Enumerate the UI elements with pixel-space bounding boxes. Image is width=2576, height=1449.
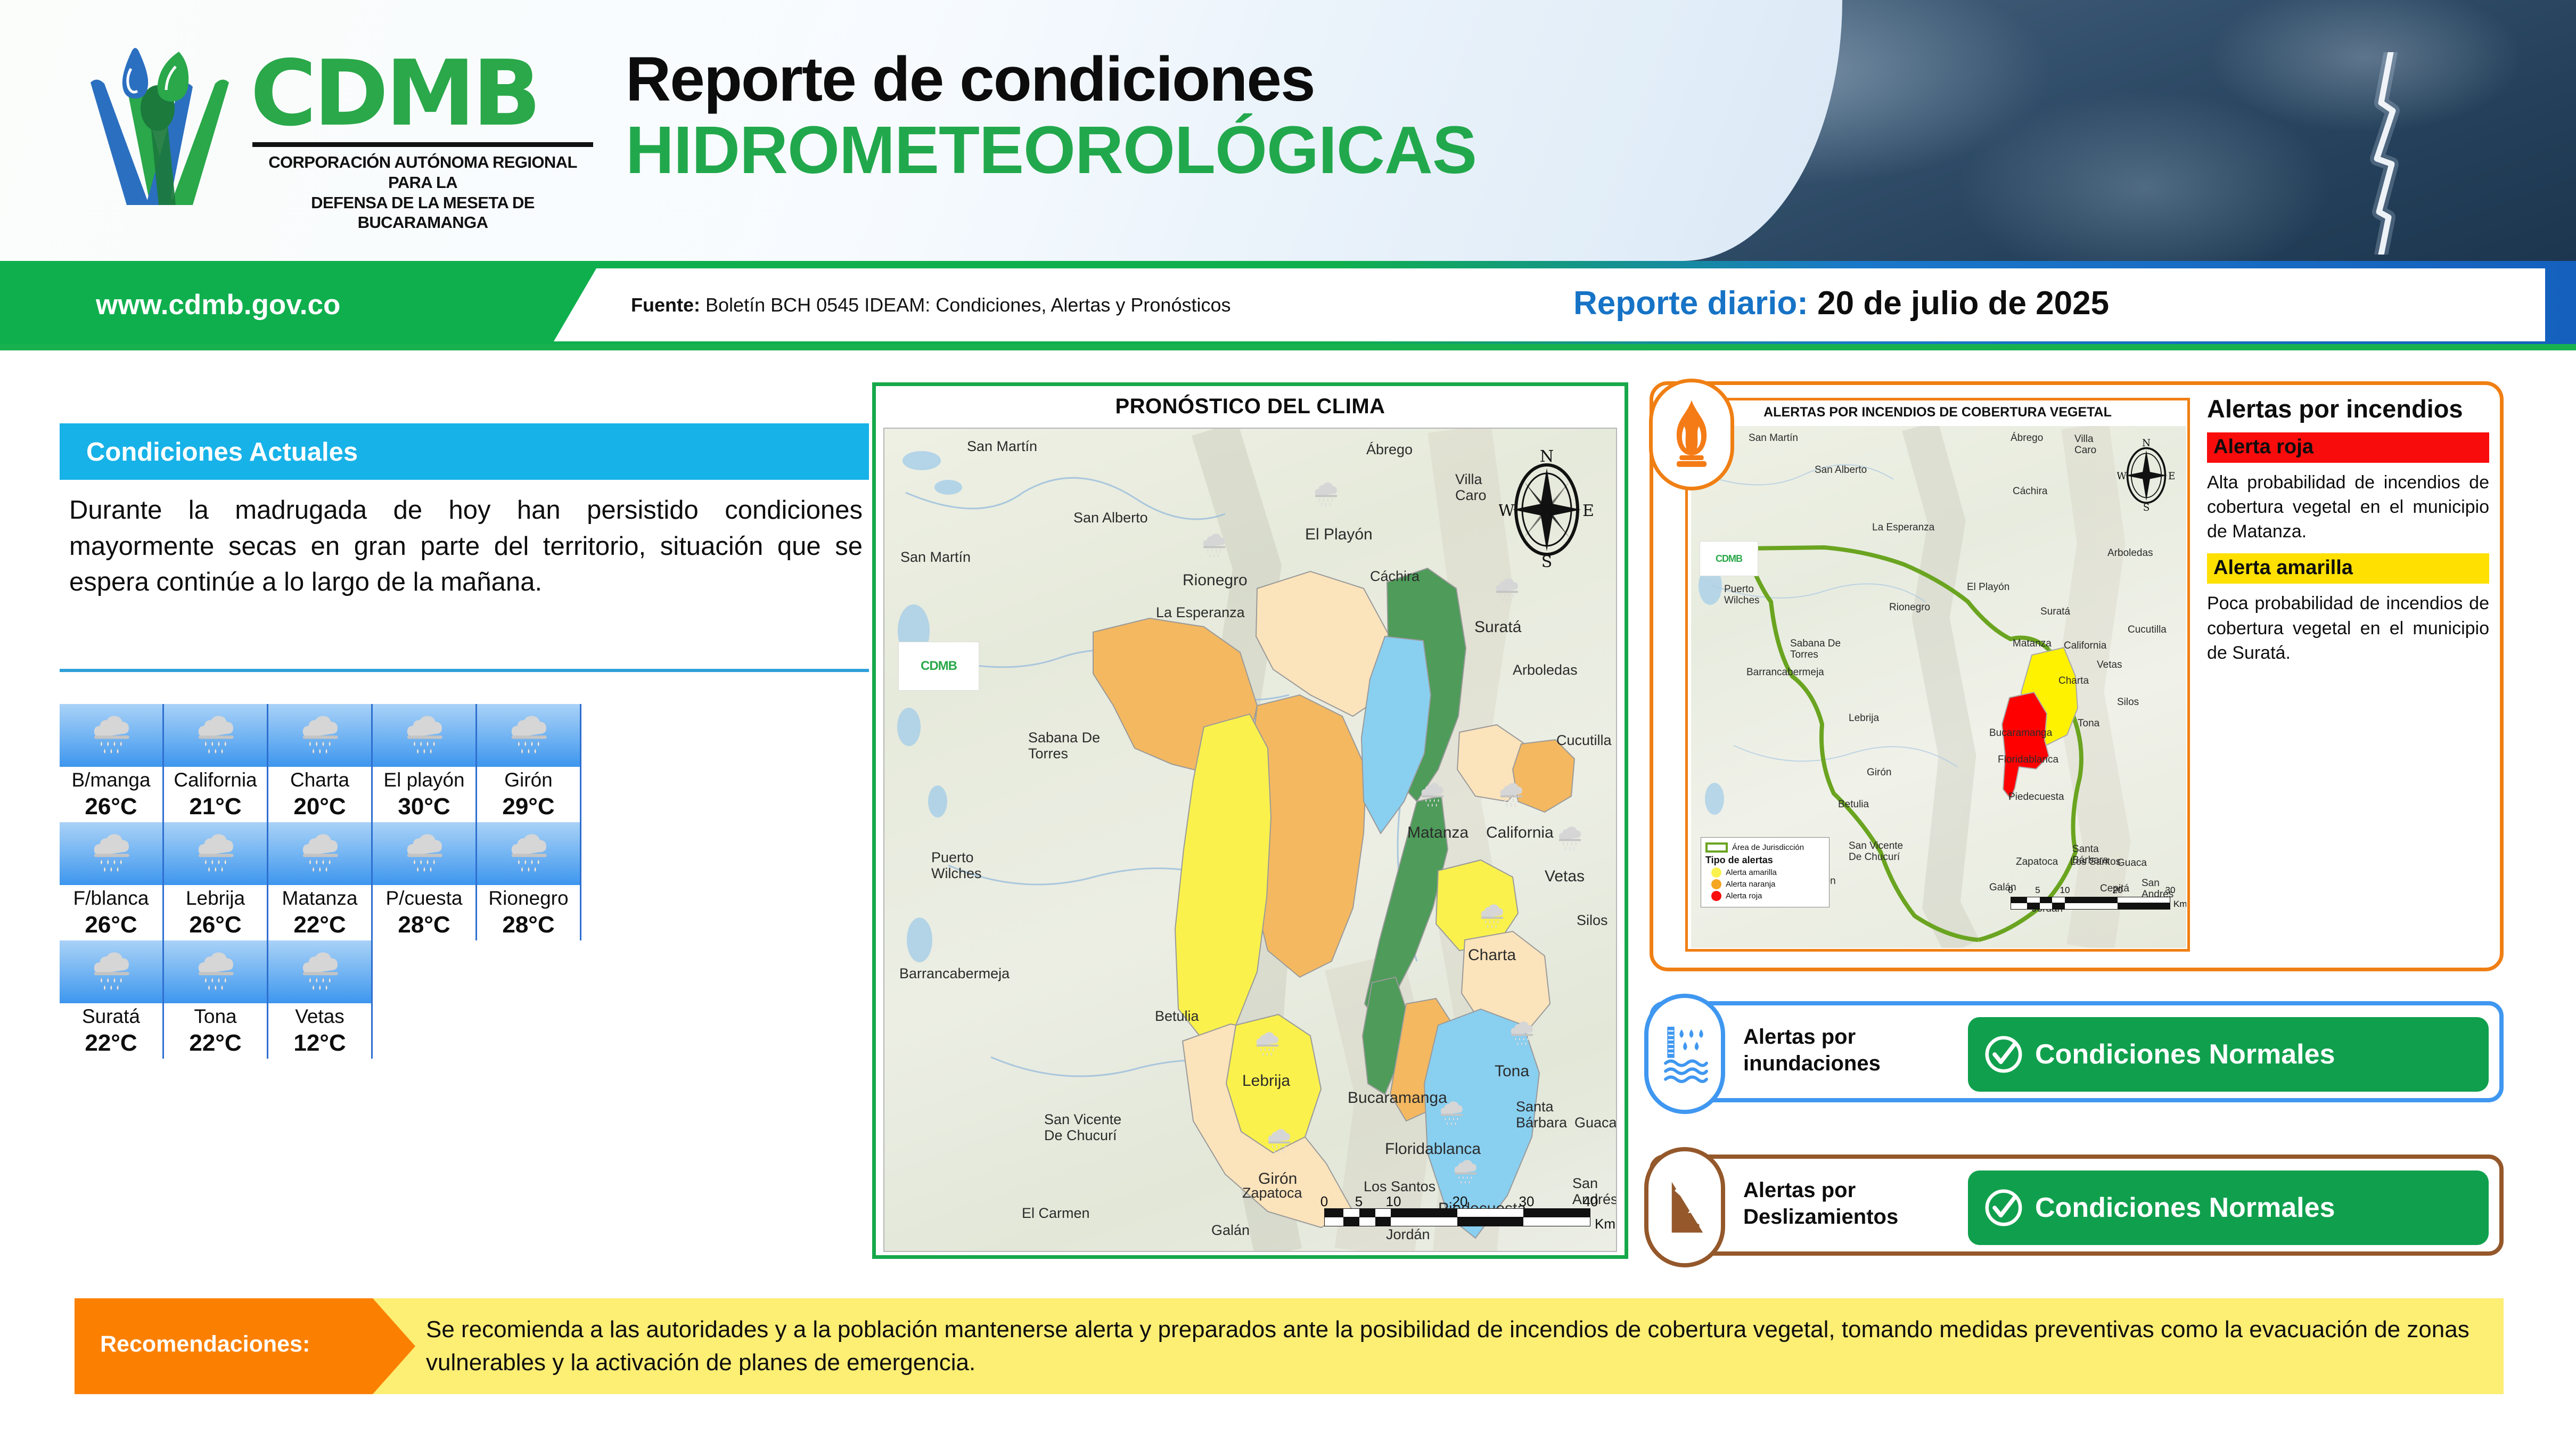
landslide-icon-badge bbox=[1644, 1147, 1725, 1267]
temperature-value: 28°C bbox=[373, 912, 475, 938]
rain-cloud-icon bbox=[87, 711, 136, 757]
rain-cloud-icon bbox=[504, 711, 553, 757]
recommendations-tag: Recomendaciones: bbox=[75, 1298, 415, 1394]
svg-text:S: S bbox=[1541, 553, 1553, 569]
map-label-sabana-de-torres: Sabana De Torres bbox=[1028, 730, 1100, 762]
rain-cloud-icon bbox=[191, 830, 240, 878]
map-label-barrancabermeja: Barrancabermeja bbox=[899, 965, 1010, 981]
check-circle-icon bbox=[1983, 1034, 2024, 1075]
current-conditions-text: Durante la madrugada de hoy han persisti… bbox=[69, 493, 863, 601]
fire-label-bucaramanga: Bucaramanga bbox=[1989, 727, 2052, 739]
fire-label-lebrija: Lebrija bbox=[1849, 713, 1879, 724]
temperature-value: 22°C bbox=[164, 1030, 267, 1057]
rain-cloud-icon bbox=[400, 830, 449, 878]
lightning-bolt-icon bbox=[2365, 52, 2413, 255]
temperature-cell: California21°C bbox=[164, 704, 268, 822]
fire-map-box[interactable]: ALERTAS POR INCENDIOS DE COBERTURA VEGET… bbox=[1685, 398, 2190, 952]
fire-alerts-panel: ALERTAS POR INCENDIOS DE COBERTURA VEGET… bbox=[1650, 381, 2504, 971]
logo-subtitle-line1: CORPORACIÓN AUTÓNOMA REGIONAL PARA LA bbox=[252, 152, 593, 193]
rain-cloud-icon bbox=[400, 830, 449, 875]
flood-alert-bar: Alertas por inundaciones Condiciones Nor… bbox=[1650, 1001, 2504, 1102]
source-note: Fuente: Boletín BCH 0545 IDEAM: Condicio… bbox=[631, 294, 1230, 316]
scale-tick: 20 bbox=[1453, 1193, 1468, 1210]
svg-text:S: S bbox=[2143, 502, 2150, 513]
alert-chip-yellow: Alerta amarilla bbox=[2207, 553, 2489, 584]
fire-label-villa-caro: Villa Caro bbox=[2074, 433, 2096, 456]
scale-tick: 30 bbox=[1519, 1193, 1535, 1210]
scale-tick: 5 bbox=[1355, 1193, 1363, 1210]
fire-badge bbox=[1649, 379, 1734, 490]
temperature-cell: Tona22°C bbox=[164, 940, 268, 1059]
page-header: CDMB CORPORACIÓN AUTÓNOMA REGIONAL PARA … bbox=[0, 0, 2576, 261]
fire-label-piedecuesta: Piedecuesta bbox=[2008, 791, 2064, 803]
svg-text:N: N bbox=[2142, 438, 2151, 449]
fire-label-giron: Girón bbox=[1867, 767, 1891, 778]
map-rain-cloud-icon bbox=[1264, 1126, 1294, 1158]
fire-label-arboledas: Arboledas bbox=[2107, 547, 2153, 559]
scale-tick: 5 bbox=[2035, 885, 2040, 896]
map-cdmb-logo: CDMB bbox=[898, 642, 979, 691]
legend-area-swatch bbox=[1705, 842, 1728, 853]
map-label-cucutilla: Cucutilla bbox=[1556, 732, 1612, 748]
legend-color-dot bbox=[1711, 879, 1721, 889]
map-municipality-vetas: Vetas bbox=[1545, 867, 1585, 886]
logo-subtitle-line2: DEFENSA DE LA MESETA DE BUCARAMANGA bbox=[252, 193, 593, 233]
rain-cloud-icon bbox=[1506, 1019, 1537, 1047]
legend-item-label: Alerta amarilla bbox=[1726, 868, 1777, 877]
rain-cloud-icon bbox=[1199, 531, 1229, 560]
temperature-cell: Vetas12°C bbox=[268, 940, 373, 1059]
map-municipality-tona: Tona bbox=[1495, 1062, 1529, 1080]
temperature-value: 12°C bbox=[268, 1030, 371, 1057]
temperature-city: Girón bbox=[477, 769, 580, 791]
map-rain-cloud-icon bbox=[1199, 531, 1229, 562]
rain-cloud-icon bbox=[1450, 1157, 1481, 1186]
alert-text-yellow: Poca probabilidad de incendios de cobert… bbox=[2207, 591, 2489, 665]
map-label-san-vicente: San Vicente De Chucurí bbox=[1044, 1111, 1121, 1143]
fire-map-title: ALERTAS POR INCENDIOS DE COBERTURA VEGET… bbox=[1688, 405, 2187, 420]
fire-label-guaca: Guaca bbox=[2117, 857, 2147, 869]
temperature-value: 20°C bbox=[268, 793, 371, 820]
climate-forecast-panel: PRONÓSTICO DEL CLIMA bbox=[872, 382, 1628, 1259]
source-value: Boletín BCH 0545 IDEAM: Condiciones, Ale… bbox=[705, 294, 1230, 316]
temperature-cell: P/cuesta28°C bbox=[373, 822, 477, 940]
rain-cloud-icon bbox=[1264, 1126, 1294, 1155]
fire-label-la-esperanza: La Esperanza bbox=[1872, 522, 1934, 533]
fire-alerts-heading: Alertas por incendios bbox=[2207, 396, 2489, 423]
fire-label-floridablanca: Floridablanca bbox=[1998, 754, 2058, 765]
fire-label-san-alberto: San Alberto bbox=[1815, 464, 1867, 476]
rain-cloud-icon bbox=[296, 948, 344, 994]
flood-gauge-icon bbox=[1660, 1020, 1709, 1087]
fire-map-logo-acronym: CDMB bbox=[1716, 553, 1742, 564]
temperature-city: Suratá bbox=[60, 1005, 162, 1028]
temperature-city: F/blanca bbox=[60, 887, 162, 910]
fire-label-zapatoca: Zapatoca bbox=[2016, 856, 2058, 867]
map-rain-cloud-icon bbox=[1496, 780, 1527, 812]
svg-text:W: W bbox=[2117, 471, 2127, 482]
fire-label-puerto-wilches: Puerto Wilches bbox=[1724, 584, 1760, 607]
logo-acronym: CDMB bbox=[250, 48, 593, 139]
fire-label-surata: Suratá bbox=[2040, 606, 2070, 617]
map-label-abrego: Ábrego bbox=[1366, 441, 1413, 457]
temperature-value: 22°C bbox=[268, 912, 371, 938]
rain-cloud-icon bbox=[1554, 824, 1585, 853]
temperature-cell: Matanza22°C bbox=[268, 822, 373, 940]
temperature-value: 28°C bbox=[477, 912, 580, 938]
map-label-el-carmen: El Carmen bbox=[1022, 1205, 1090, 1221]
map-label-cachira: Cáchira bbox=[1370, 568, 1420, 584]
climate-map[interactable]: San Martín San Martín San Alberto Ábrego… bbox=[883, 428, 1617, 1252]
fire-label-betulia: Betulia bbox=[1838, 799, 1869, 810]
scale-tick: 30 bbox=[2165, 885, 2176, 896]
rain-cloud-icon bbox=[296, 711, 344, 760]
fire-label-matanza: Matanza bbox=[2013, 638, 2052, 649]
current-conditions-title: Condiciones Actuales bbox=[86, 437, 358, 467]
info-banner: www.cdmb.gov.co Fuente: Boletín BCH 0545… bbox=[0, 261, 2576, 349]
legend-types-heading: Tipo de alertas bbox=[1705, 855, 1825, 866]
fire-map-scalebar: 05102030 bbox=[2011, 885, 2170, 910]
temperature-city: Vetas bbox=[268, 1005, 371, 1028]
temperature-city: P/cuesta bbox=[373, 887, 475, 910]
map-rain-cloud-icon bbox=[1252, 1029, 1283, 1061]
current-conditions-divider bbox=[60, 669, 869, 672]
map-label-san-martin-w: San Martín bbox=[900, 549, 971, 565]
climate-map-title: PRONÓSTICO DEL CLIMA bbox=[876, 395, 1625, 419]
map-label-galan: Galán bbox=[1211, 1222, 1250, 1238]
map-rain-cloud-icon bbox=[1554, 824, 1585, 855]
rain-cloud-icon bbox=[191, 948, 240, 996]
rain-cloud-icon bbox=[191, 830, 240, 875]
temperature-value: 26°C bbox=[60, 912, 162, 938]
flood-status-text: Condiciones Normales bbox=[2035, 1038, 2335, 1070]
temperature-city: El playón bbox=[373, 769, 475, 791]
map-municipality-california: California bbox=[1486, 824, 1554, 842]
landslide-alert-bar: Alertas por Deslizamientos Condiciones N… bbox=[1650, 1155, 2504, 1256]
rain-cloud-icon bbox=[400, 711, 449, 760]
fire-compass-rose-icon: N S W E bbox=[2117, 435, 2176, 514]
rain-cloud-icon bbox=[87, 948, 136, 996]
map-rain-cloud-icon bbox=[1450, 1157, 1481, 1189]
flame-icon bbox=[1665, 398, 1718, 471]
rain-cloud-icon bbox=[1436, 1099, 1467, 1127]
scale-tick: 10 bbox=[2060, 885, 2070, 896]
temperature-city: Charta bbox=[268, 769, 371, 791]
rain-cloud-icon bbox=[296, 948, 344, 996]
fire-label-charta: Charta bbox=[2058, 675, 2089, 686]
legend-item: Alerta naranja bbox=[1705, 879, 1825, 889]
temperature-value: 26°C bbox=[164, 912, 267, 938]
rain-cloud-icon bbox=[1496, 780, 1527, 809]
temperature-city: Tona bbox=[164, 1005, 267, 1028]
map-municipality-floridablanca: Floridablanca bbox=[1385, 1140, 1481, 1158]
rain-cloud-icon bbox=[504, 830, 553, 878]
map-rain-cloud-icon bbox=[1310, 480, 1341, 511]
temperature-value: 29°C bbox=[477, 793, 580, 820]
flood-status-badge: Condiciones Normales bbox=[1968, 1017, 2489, 1092]
map-logo-acronym: CDMB bbox=[921, 659, 957, 674]
report-page: CDMB CORPORACIÓN AUTÓNOMA REGIONAL PARA … bbox=[0, 0, 2576, 1449]
fire-label-cachira: Cáchira bbox=[2013, 486, 2047, 497]
flood-alert-label: Alertas por inundaciones bbox=[1743, 1024, 1951, 1077]
rain-cloud-icon bbox=[191, 711, 240, 760]
flood-icon-badge bbox=[1644, 994, 1725, 1114]
temperature-city: Matanza bbox=[268, 887, 371, 910]
map-rain-cloud-icon bbox=[1491, 576, 1522, 607]
map-label-betulia: Betulia bbox=[1155, 1008, 1199, 1024]
temperature-cell: Rionegro28°C bbox=[477, 822, 581, 940]
map-municipality-bucaramanga: Bucaramanga bbox=[1348, 1089, 1447, 1107]
svg-text:E: E bbox=[1582, 502, 1594, 520]
cdmb-logo-mark-icon bbox=[69, 45, 245, 216]
fire-label-abrego: Ábrego bbox=[2011, 432, 2043, 444]
rain-cloud-icon bbox=[87, 830, 136, 878]
temperature-cell: F/blanca26°C bbox=[60, 822, 164, 940]
map-label-puerto-wilches: Puerto Wilches bbox=[931, 849, 982, 881]
legend-jurisdiction-row: Área de Jurisdicción bbox=[1705, 842, 1825, 853]
fire-map-legend: Área de Jurisdicción Tipo de alertas Ale… bbox=[1701, 837, 1830, 907]
compass-rose-icon: N S W E bbox=[1499, 447, 1595, 569]
scale-tick: 0 bbox=[1320, 1193, 1328, 1210]
rain-cloud-icon bbox=[191, 948, 240, 994]
fire-label-barrancabermeja: Barrancabermeja bbox=[1746, 667, 1824, 678]
map-label-la-esperanza: La Esperanza bbox=[1156, 604, 1245, 620]
legend-item: Alerta amarilla bbox=[1705, 867, 1825, 878]
report-date-label: Reporte diario: bbox=[1573, 285, 1808, 322]
map-municipality-matanza: Matanza bbox=[1407, 824, 1469, 842]
map-municipality-giron: Girón bbox=[1258, 1170, 1297, 1188]
map-label-villa-caro: Villa Caro bbox=[1455, 471, 1487, 503]
fire-label-santa-barbara: Santa Bárbara bbox=[2072, 844, 2109, 866]
map-rain-cloud-icon bbox=[1417, 780, 1448, 812]
cdmb-logo: CDMB CORPORACIÓN AUTÓNOMA REGIONAL PARA … bbox=[69, 40, 602, 221]
fire-alerts-text: Alertas por incendios Alerta roja Alta p… bbox=[2207, 396, 2489, 665]
temperature-city: California bbox=[164, 769, 267, 791]
svg-text:N: N bbox=[1540, 447, 1554, 466]
rain-cloud-icon bbox=[1417, 780, 1448, 809]
temperature-city: Rionegro bbox=[477, 887, 580, 910]
report-date: Reporte diario: 20 de julio de 2025 bbox=[1573, 284, 2109, 322]
temperature-city: B/manga bbox=[60, 769, 162, 791]
rain-cloud-icon bbox=[296, 830, 344, 878]
climate-scale-unit: Km bbox=[1595, 1216, 1615, 1232]
temperature-value: 22°C bbox=[60, 1030, 162, 1057]
map-municipality-lebrija: Lebrija bbox=[1242, 1072, 1290, 1090]
rain-cloud-icon bbox=[296, 830, 344, 875]
map-label-santa-barbara: Santa Bárbara bbox=[1516, 1099, 1567, 1131]
rain-cloud-icon bbox=[1310, 480, 1341, 509]
temperature-cell: Charta20°C bbox=[268, 704, 373, 822]
rain-cloud-icon bbox=[504, 830, 553, 875]
legend-item-label: Alerta naranja bbox=[1726, 880, 1775, 889]
map-label-san-martin-n: San Martín bbox=[967, 438, 1037, 454]
legend-color-dot bbox=[1711, 867, 1721, 878]
title-line-2: HIDROMETEOROLÓGICAS bbox=[626, 115, 1476, 185]
svg-text:W: W bbox=[1499, 502, 1515, 520]
rain-cloud-icon bbox=[1491, 576, 1522, 604]
scale-tick: 0 bbox=[2008, 885, 2013, 896]
landslide-status-text: Condiciones Normales bbox=[2035, 1192, 2335, 1224]
map-label-silos: Silos bbox=[1577, 912, 1608, 928]
legend-item: Alerta roja bbox=[1705, 891, 1825, 901]
map-rain-cloud-icon bbox=[1436, 1099, 1467, 1130]
scale-tick: 40 bbox=[1583, 1193, 1598, 1210]
fire-label-cucutilla: Cucutilla bbox=[2128, 624, 2167, 635]
scale-tick: 10 bbox=[1386, 1193, 1401, 1210]
climate-map-scalebar: 0510203040 bbox=[1324, 1193, 1590, 1226]
map-label-los-santos: Los Santos bbox=[1364, 1178, 1435, 1194]
temperature-cell: Suratá22°C bbox=[60, 940, 164, 1059]
legend-area-label: Área de Jurisdicción bbox=[1732, 843, 1804, 852]
temperature-cell: Lebrija26°C bbox=[164, 822, 268, 940]
scale-tick: 20 bbox=[2113, 885, 2123, 896]
fire-label-san-vicente: San Vicente De Chucurí bbox=[1849, 840, 1903, 863]
rain-cloud-icon bbox=[296, 711, 344, 757]
fire-label-rionegro: Rionegro bbox=[1889, 602, 1930, 613]
map-municipality-rionegro: Rionegro bbox=[1183, 571, 1248, 590]
map-label-jordan: Jordán bbox=[1386, 1226, 1430, 1242]
legend-item-label: Alerta roja bbox=[1726, 891, 1762, 900]
alert-text-red: Alta probabilidad de incendios de cobert… bbox=[2207, 470, 2489, 544]
rain-cloud-icon bbox=[87, 948, 136, 994]
fire-scale-unit: Km bbox=[2173, 899, 2186, 910]
map-label-san-alberto: San Alberto bbox=[1073, 510, 1148, 526]
banner-bottom-rule bbox=[0, 344, 2576, 350]
rain-cloud-icon bbox=[87, 711, 136, 760]
temperature-value: 30°C bbox=[373, 793, 475, 820]
fire-map[interactable]: San Martín San Alberto Ábrego Villa Caro… bbox=[1691, 426, 2186, 948]
fire-label-silos: Silos bbox=[2117, 697, 2139, 708]
legend-color-dot bbox=[1711, 891, 1721, 901]
recommendations-text: Se recomienda a las autoridades y a la p… bbox=[426, 1313, 2481, 1380]
rain-cloud-icon bbox=[504, 711, 553, 760]
temperature-value: 21°C bbox=[164, 793, 267, 820]
landslide-status-badge: Condiciones Normales bbox=[1968, 1170, 2489, 1245]
alert-chip-red: Alerta roja bbox=[2207, 432, 2489, 463]
report-date-value: 20 de julio de 2025 bbox=[1817, 285, 2109, 322]
current-conditions-header: Condiciones Actuales bbox=[60, 423, 869, 480]
fire-label-el-playon: El Playón bbox=[1967, 582, 2009, 593]
source-label: Fuente: bbox=[631, 294, 700, 316]
website-link[interactable]: www.cdmb.gov.co bbox=[96, 289, 340, 321]
recommendations-banner: Recomendaciones: Se recomienda a las aut… bbox=[75, 1298, 2504, 1394]
map-label-guaca: Guaca bbox=[1574, 1115, 1617, 1131]
fire-label-san-martin: San Martín bbox=[1749, 432, 1798, 444]
rain-cloud-icon bbox=[1252, 1029, 1283, 1058]
temperature-value: 26°C bbox=[60, 793, 162, 820]
map-rain-cloud-icon bbox=[1506, 1019, 1537, 1050]
map-municipality-charta: Charta bbox=[1468, 946, 1516, 964]
temperature-city: Lebrija bbox=[164, 887, 267, 910]
svg-text:E: E bbox=[2168, 471, 2175, 482]
temperature-cell: B/manga26°C bbox=[60, 704, 164, 822]
fire-map-cdmb-logo: CDMB bbox=[1700, 541, 1758, 576]
map-label-arboledas: Arboledas bbox=[1513, 662, 1578, 678]
map-municipality-surata: Suratá bbox=[1474, 618, 1521, 636]
rain-cloud-icon bbox=[87, 830, 136, 875]
fire-label-vetas: Vetas bbox=[2097, 659, 2122, 670]
page-title: Reporte de condiciones HIDROMETEOROLÓGIC… bbox=[626, 47, 1476, 185]
rain-cloud-icon bbox=[1476, 902, 1507, 930]
map-municipality-el-playon: El Playón bbox=[1305, 526, 1373, 544]
temperature-grid: B/manga26°CCalifornia21°CCharta20°CEl pl… bbox=[60, 704, 581, 1059]
check-circle-icon bbox=[1983, 1187, 2024, 1229]
landslide-alert-label: Alertas por Deslizamientos bbox=[1743, 1177, 1951, 1231]
map-rain-cloud-icon bbox=[1476, 902, 1507, 933]
fire-label-sabana-de-torres: Sabana De Torres bbox=[1790, 638, 1841, 661]
landslide-icon bbox=[1660, 1174, 1709, 1241]
temperature-cell: Girón29°C bbox=[477, 704, 581, 822]
rain-cloud-icon bbox=[400, 711, 449, 757]
fire-label-california: California bbox=[2064, 640, 2106, 651]
fire-label-tona: Tona bbox=[2078, 718, 2099, 729]
title-line-1: Reporte de condiciones bbox=[626, 47, 1476, 113]
temperature-cell: El playón30°C bbox=[373, 704, 477, 822]
recommendations-tag-label: Recomendaciones: bbox=[100, 1331, 310, 1357]
rain-cloud-icon bbox=[191, 711, 240, 757]
